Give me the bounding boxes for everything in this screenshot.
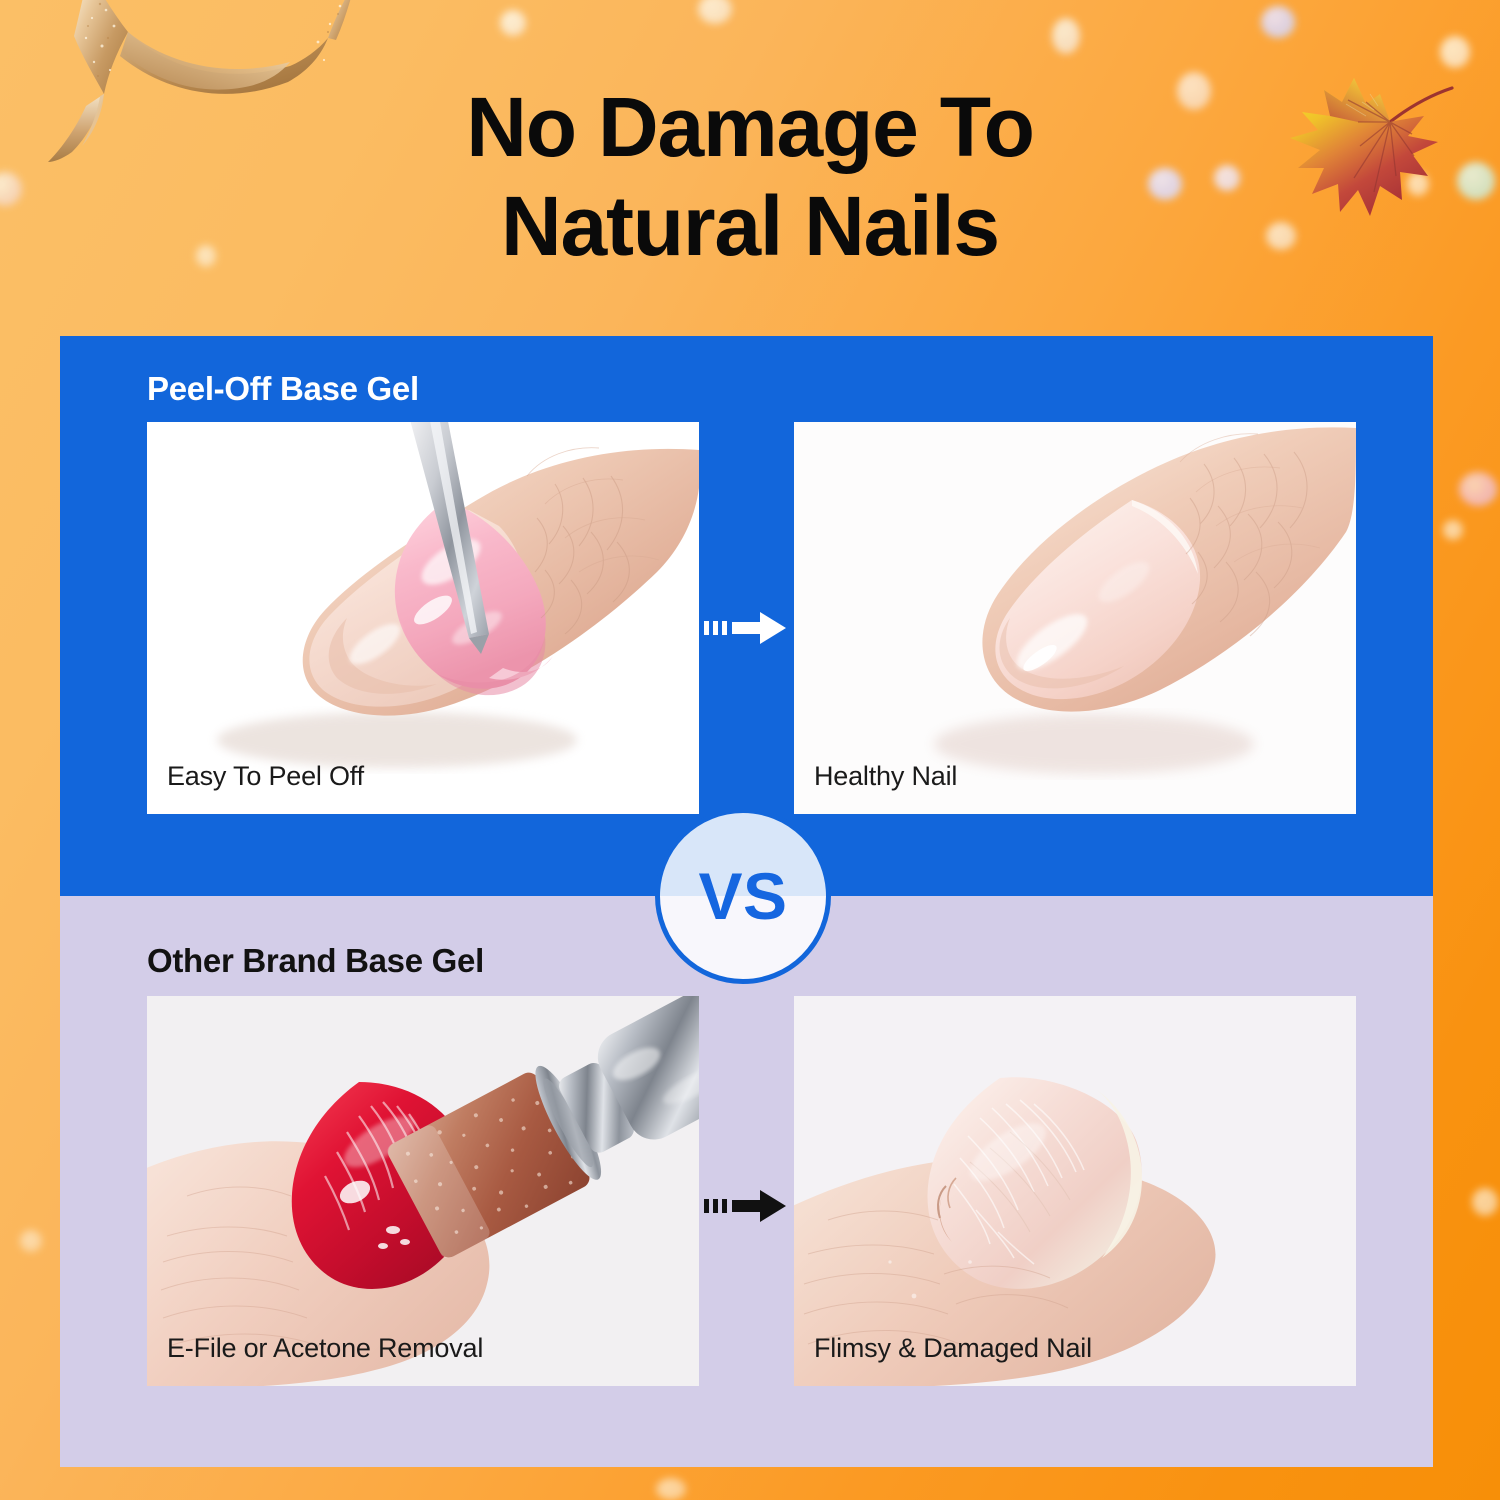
card-easy-to-peel-off[interactable]: Easy To Peel Off — [147, 422, 699, 814]
confetti-dot — [1459, 472, 1497, 506]
card-efile-removal[interactable]: E-File or Acetone Removal — [147, 996, 699, 1386]
card-label-damaged-nail: Flimsy & Damaged Nail — [814, 1333, 1092, 1364]
card-label-easy-to-peel-off: Easy To Peel Off — [167, 761, 364, 792]
comparison-block: Peel-Off Base Gel — [60, 336, 1433, 1467]
card-label-efile-removal: E-File or Acetone Removal — [167, 1333, 483, 1364]
confetti-dot — [20, 1230, 42, 1252]
photo-damaged-nail — [794, 996, 1356, 1386]
white-dashed-arrow-icon — [704, 608, 788, 648]
card-healthy-nail[interactable]: Healthy Nail — [794, 422, 1356, 814]
photo-peel-off-gel — [147, 422, 699, 814]
vs-label: VS — [698, 863, 787, 929]
photo-healthy-nail — [794, 422, 1356, 814]
confetti-dot — [656, 1478, 686, 1500]
black-dashed-arrow-icon — [704, 1186, 788, 1226]
card-label-healthy-nail: Healthy Nail — [814, 761, 957, 792]
infographic-canvas: No Damage To Natural Nails Peel-Off Base… — [0, 0, 1500, 1500]
confetti-dot — [1472, 1188, 1498, 1216]
page-title: No Damage To Natural Nails — [0, 78, 1500, 276]
vs-badge: VS — [655, 808, 831, 984]
panel-title-peel-off: Peel-Off Base Gel — [147, 370, 419, 408]
confetti-dot — [1443, 520, 1463, 540]
header: No Damage To Natural Nails — [0, 0, 1500, 336]
photo-efile-removal — [147, 996, 699, 1386]
card-damaged-nail[interactable]: Flimsy & Damaged Nail — [794, 996, 1356, 1386]
panel-title-other-brand: Other Brand Base Gel — [147, 942, 484, 980]
